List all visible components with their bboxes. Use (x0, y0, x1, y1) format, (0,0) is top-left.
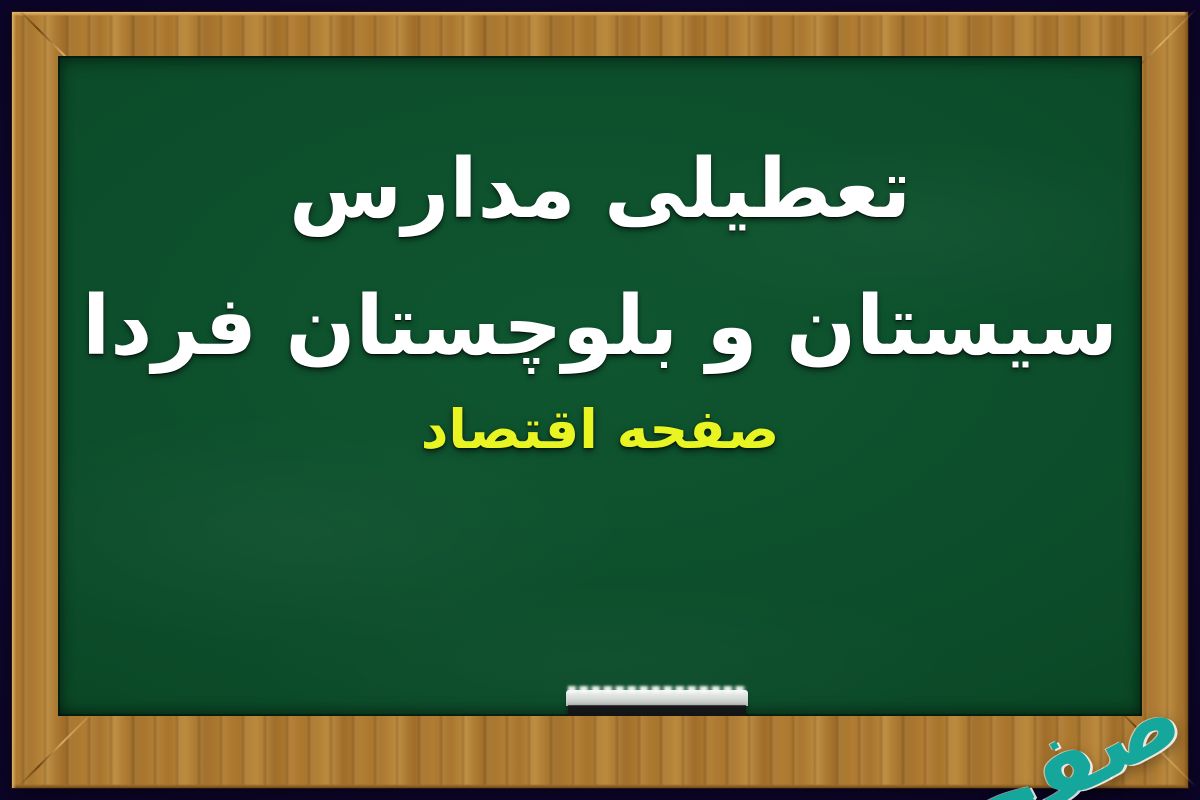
frame-bevel-right (1184, 12, 1188, 788)
chalk-dust-overlay (58, 56, 1142, 716)
headline-line-1: تعطیلی مدارس (58, 142, 1142, 239)
frame-corner-bottom-left (12, 710, 90, 788)
frame-bevel-bottom (12, 784, 1188, 788)
subtitle-source-label: صفحه اقتصاد (58, 398, 1142, 461)
eraser-body (568, 705, 746, 716)
announcement-graphic: تعطیلی مدارس سیستان و بلوچستان فردا صفحه… (0, 0, 1200, 800)
headline-line-2: سیستان و بلوچستان فردا (58, 279, 1142, 376)
headline-block: تعطیلی مدارس سیستان و بلوچستان فردا صفحه… (58, 142, 1142, 461)
frame-bevel-left (12, 12, 16, 788)
frame-bevel-top (12, 12, 1188, 16)
chalkboard-surface: تعطیلی مدارس سیستان و بلوچستان فردا صفحه… (58, 56, 1142, 716)
eraser-felt-pad (566, 690, 748, 706)
frame-corner-bottom-right (1110, 710, 1188, 788)
chalkboard-eraser-icon (566, 690, 748, 716)
